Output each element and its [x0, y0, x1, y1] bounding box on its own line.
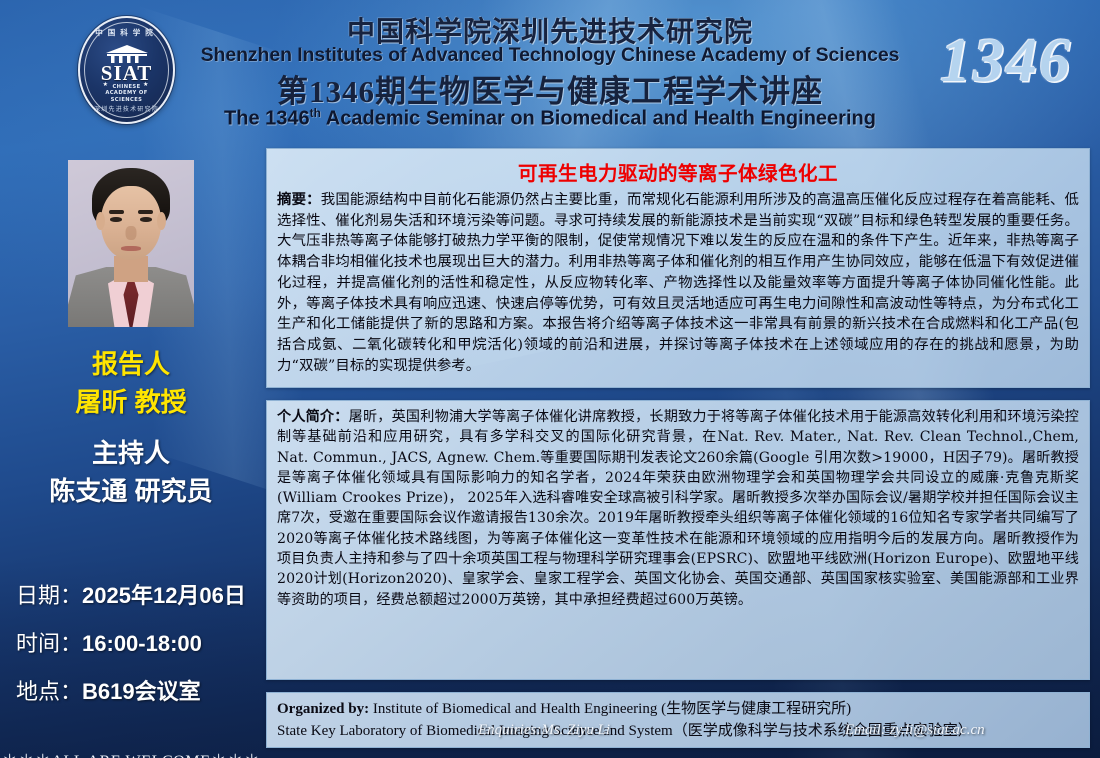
seminar-title-en-ordinal: th — [310, 106, 321, 120]
poster-footer: Enquiries:Ms. Ziyu Li Email: zy.li@siat.… — [0, 712, 1100, 758]
seminar-title-cn: 第1346期生物医学与健康工程学术讲座 — [0, 66, 1100, 111]
poster-header: 中国科学院 SIAT ★ ★ CHINESE ACADEM — [0, 0, 1100, 145]
abstract-body: 摘要：我国能源结构中目前化石能源仍然占主要比重，而常规化石能源利用所涉及的高温高… — [277, 190, 1079, 376]
event-time: 时间：16:00-18:00 — [16, 626, 202, 658]
speaker-sidebar: 报告人 屠昕 教授 主持人 陈支通 研究员 日期：2025年12月06日 时间：… — [0, 145, 262, 758]
portrait-brow-right — [138, 210, 153, 214]
seminar-title-en-rest: Academic Seminar on Biomedical and Healt… — [321, 108, 876, 130]
event-location-value: B619会议室 — [82, 679, 201, 704]
seminar-poster: 中国科学院 SIAT ★ ★ CHINESE ACADEM — [0, 0, 1100, 758]
enquiries-contact: Enquiries:Ms. Ziyu Li — [478, 722, 610, 739]
biography-label: 个人简介： — [277, 409, 349, 425]
portrait-nose — [126, 226, 137, 240]
event-date: 日期：2025年12月06日 — [16, 578, 246, 610]
event-location: 地点：B619会议室 — [16, 674, 201, 706]
event-location-label: 地点： — [16, 679, 82, 704]
biography-text: 屠昕，英国利物浦大学等离子体催化讲席教授，长期致力于将等离子体催化技术用于能源高… — [277, 409, 1079, 608]
portrait-ear-right — [157, 212, 166, 230]
host-name: 陈支通 研究员 — [0, 471, 262, 508]
speaker-label: 报告人 — [0, 344, 262, 381]
biography-panel: 个人简介：屠昕，英国利物浦大学等离子体催化讲席教授，长期致力于将等离子体催化技术… — [266, 400, 1090, 680]
abstract-text: 我国能源结构中目前化石能源仍然占主要比重，而常规化石能源利用所涉及的高温高压催化… — [277, 192, 1079, 374]
abstract-label: 摘要： — [277, 191, 321, 208]
portrait-brow-left — [109, 210, 124, 214]
abstract-panel: 可再生电力驱动的等离子体绿色化工 摘要：我国能源结构中目前化石能源仍然占主要比重… — [266, 148, 1090, 388]
speaker-portrait-photo — [68, 160, 194, 327]
host-label: 主持人 — [0, 433, 262, 470]
biography-body: 个人简介：屠昕，英国利物浦大学等离子体催化讲席教授，长期致力于将等离子体催化技术… — [277, 407, 1079, 610]
event-time-label: 时间： — [16, 631, 82, 656]
seminar-title-en-prefix: The 1346 — [224, 108, 310, 130]
portrait-mouth — [121, 246, 141, 251]
institute-name-en: Shenzhen Institutes of Advanced Technolo… — [0, 44, 1100, 67]
speaker-name: 屠昕 教授 — [0, 382, 262, 419]
seminar-title-en: The 1346th Academic Seminar on Biomedica… — [0, 106, 1100, 131]
event-date-value: 2025年12月06日 — [82, 583, 246, 608]
email-contact: Email: zy.li@siat.ac.cn — [845, 722, 985, 739]
talk-title: 可再生电力驱动的等离子体绿色化工 — [277, 157, 1079, 186]
issue-number-watermark: 1346 — [940, 26, 1072, 97]
portrait-eye-left — [110, 217, 122, 222]
portrait-ear-left — [96, 212, 105, 230]
event-time-value: 16:00-18:00 — [82, 631, 202, 656]
event-date-label: 日期： — [16, 583, 82, 608]
portrait-eye-right — [140, 217, 152, 222]
